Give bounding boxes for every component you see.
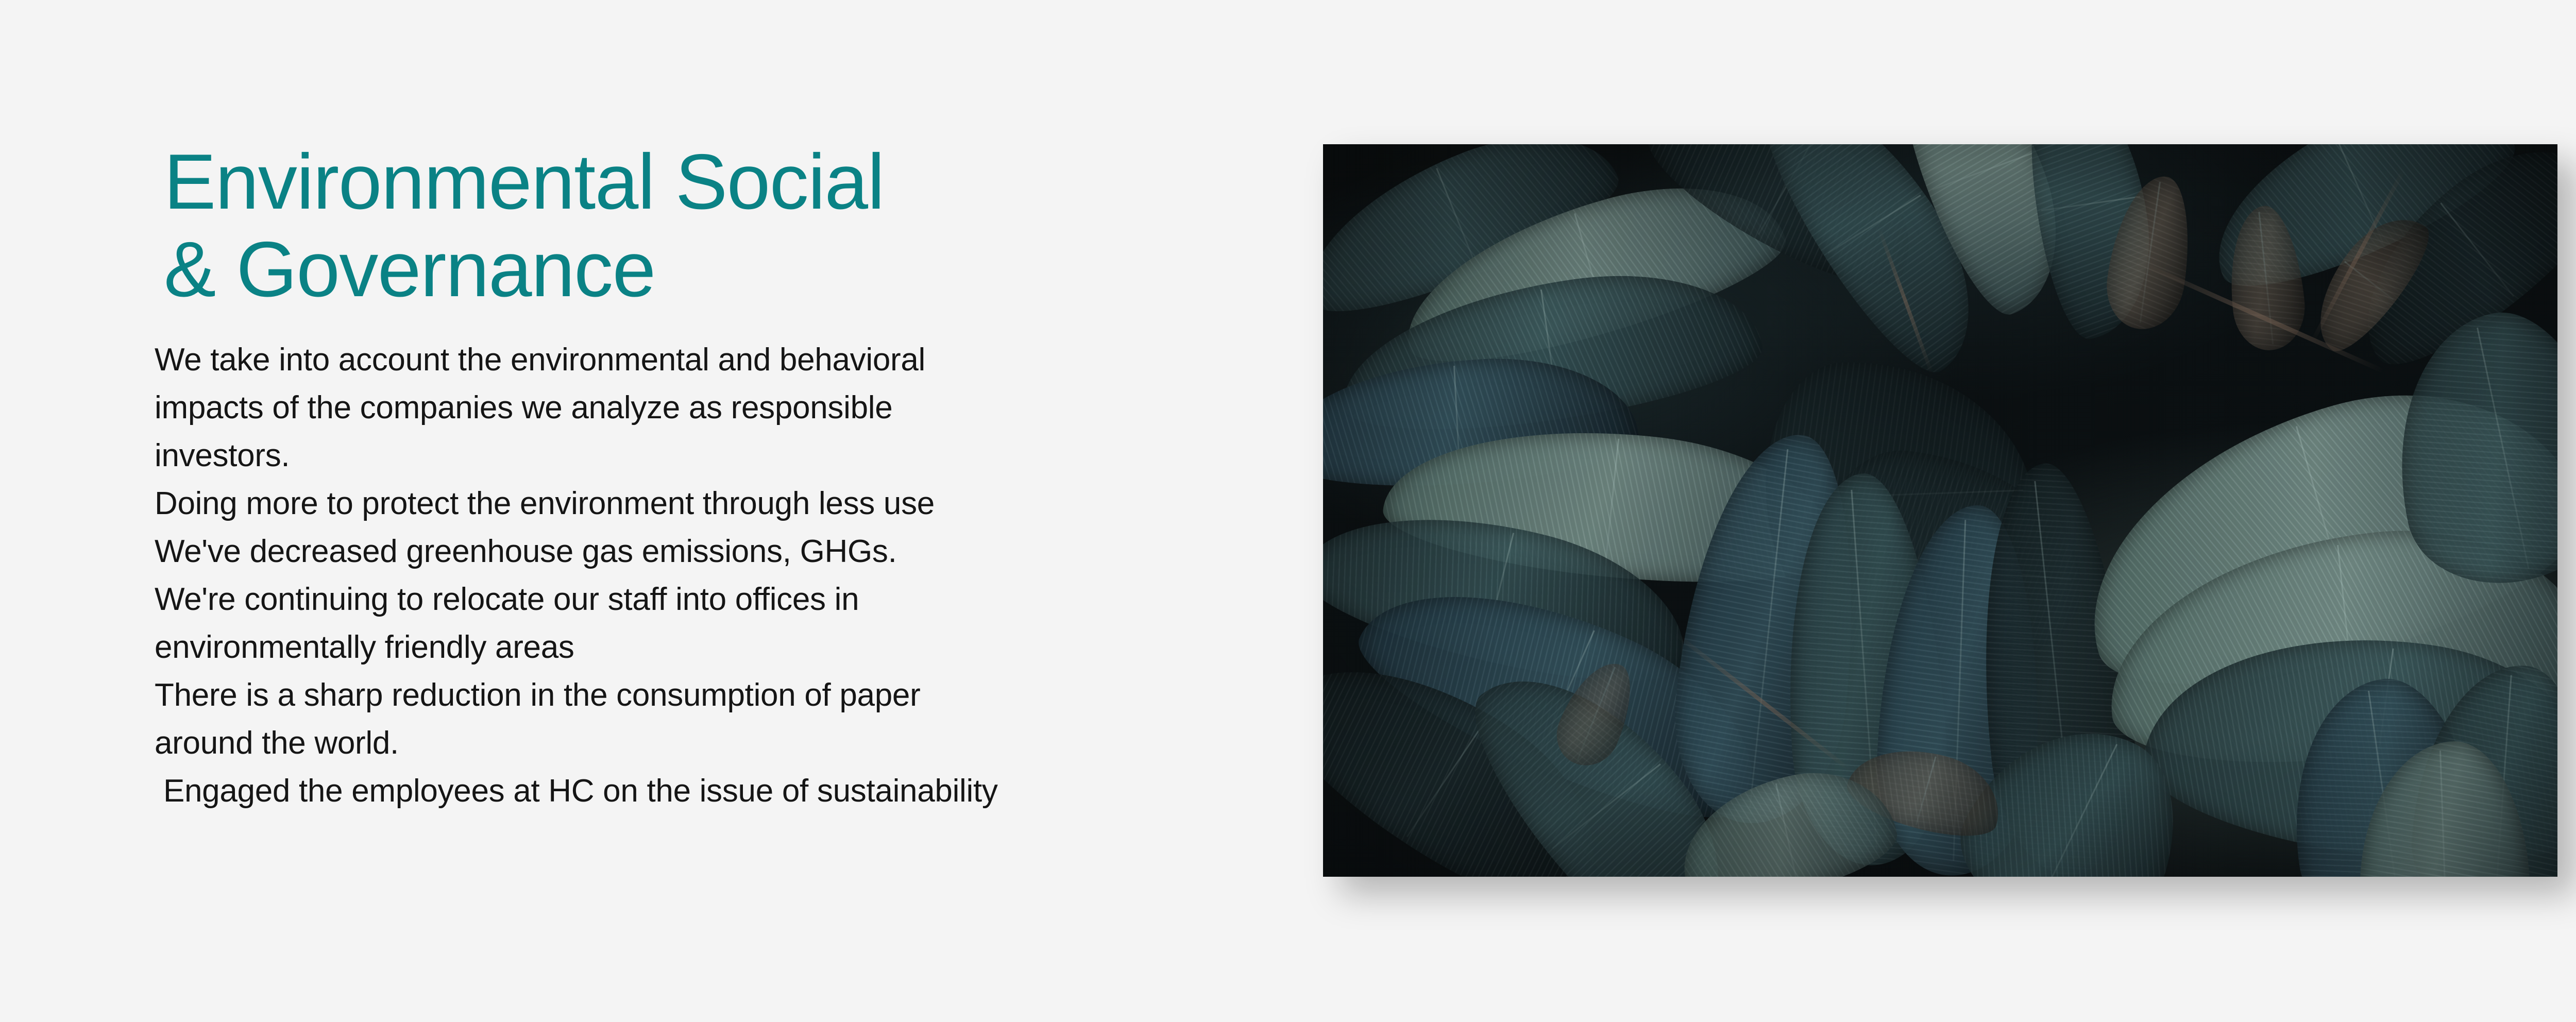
slide-canvas: Environmental Social & Governance We tak…	[0, 0, 2576, 1022]
leaves-photo	[1323, 144, 2557, 877]
page-title: Environmental Social & Governance	[164, 138, 1216, 313]
body-paragraph: We take into account the environmental a…	[155, 336, 1216, 815]
body-copy-block: We take into account the environmental a…	[155, 336, 1216, 815]
text-column: Environmental Social & Governance We tak…	[155, 138, 1216, 815]
photo-canvas	[1323, 144, 2557, 877]
